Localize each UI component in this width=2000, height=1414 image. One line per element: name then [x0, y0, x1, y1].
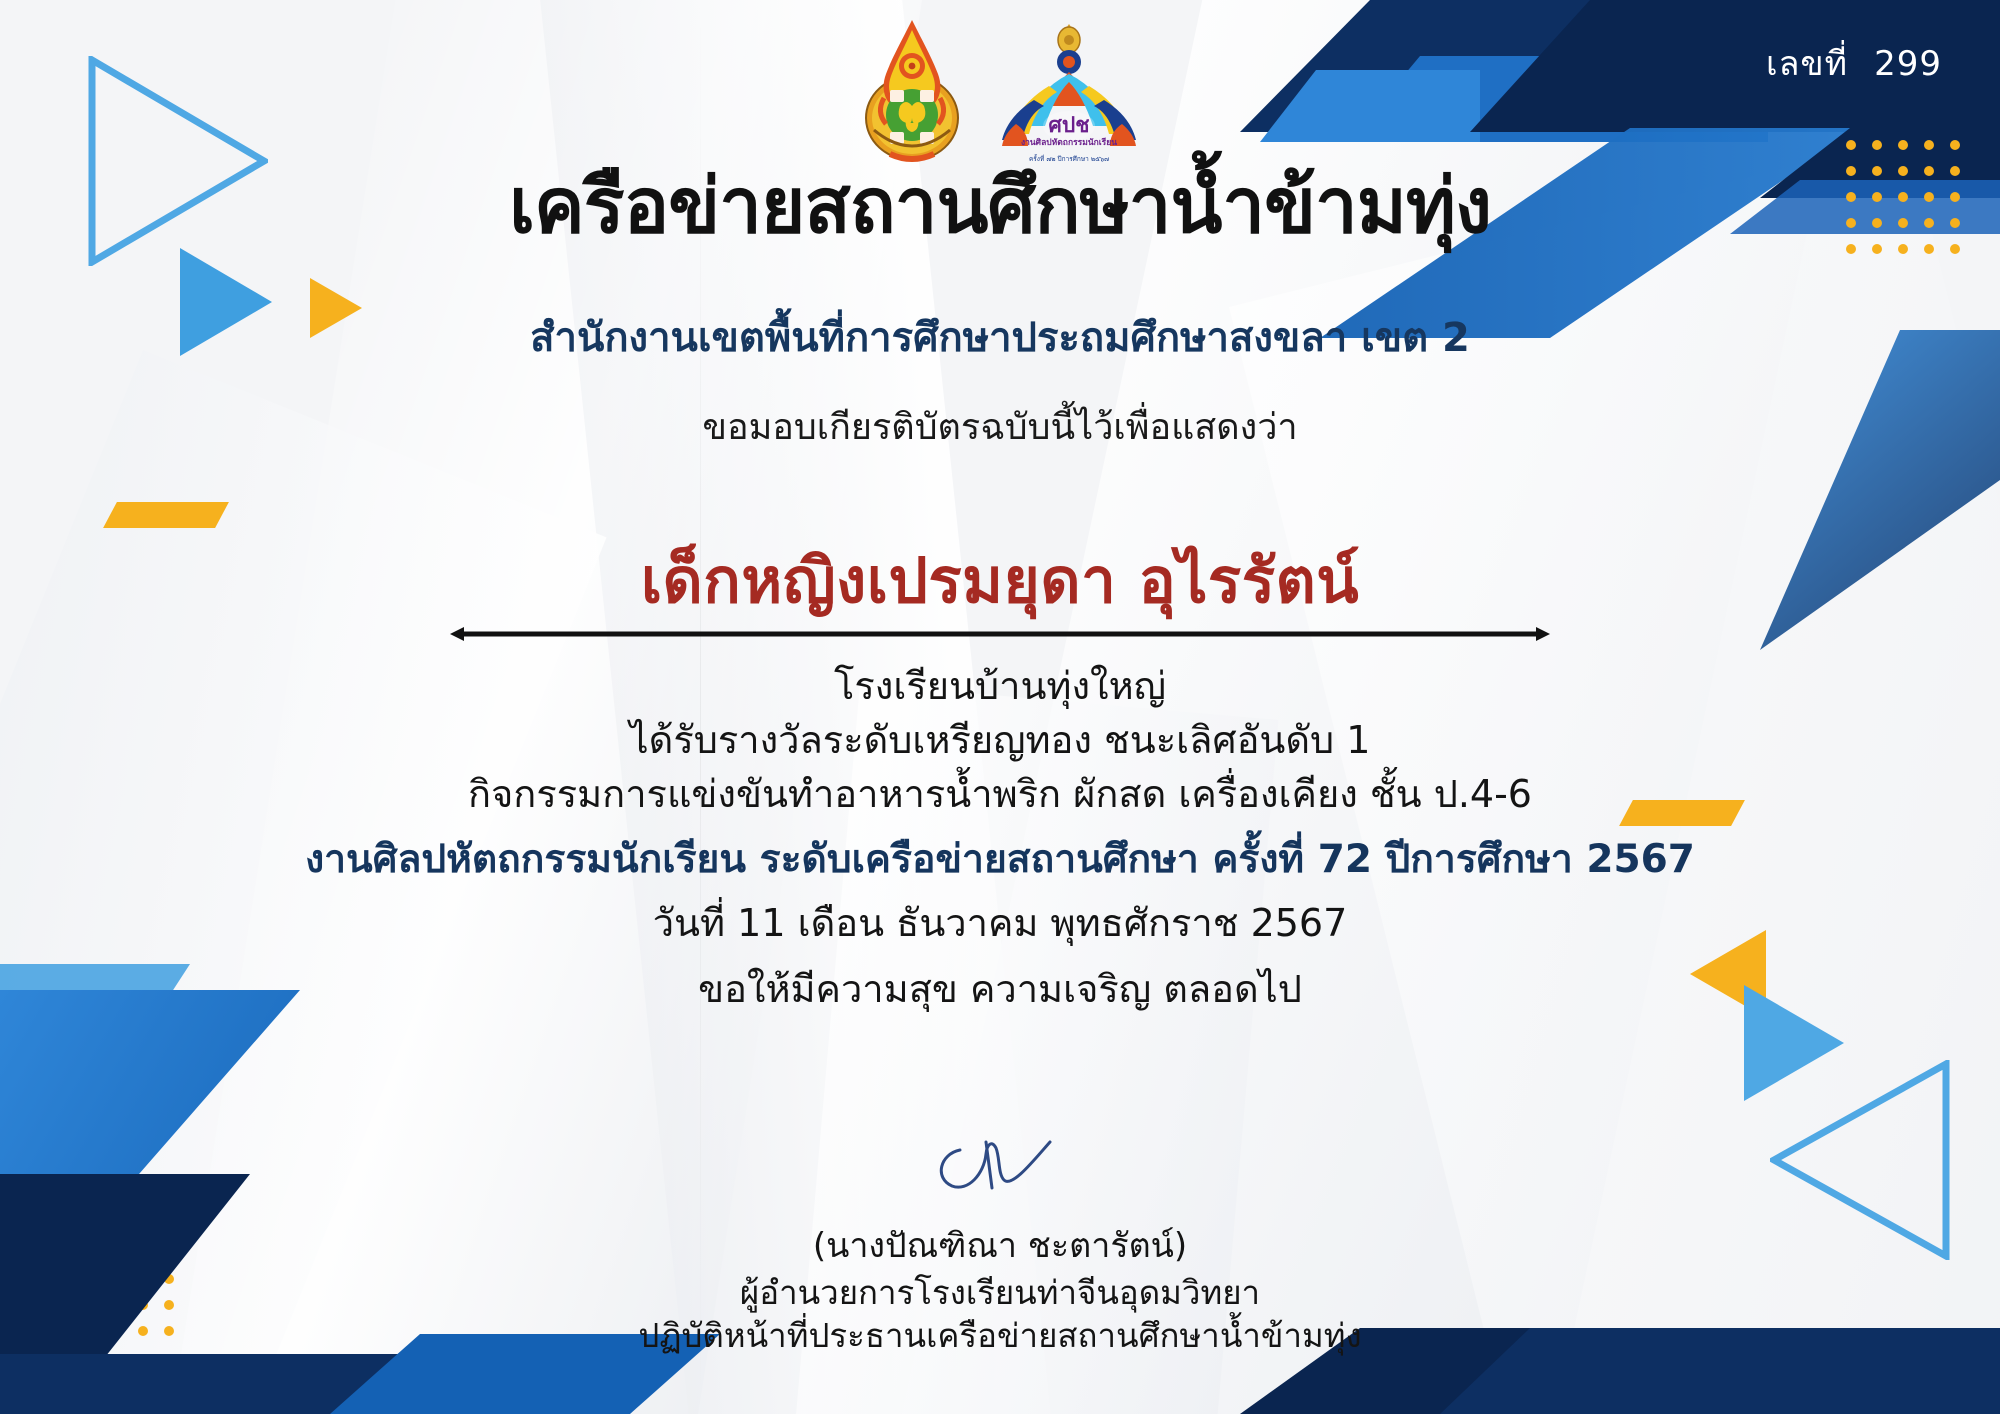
recipient-name-rule	[450, 626, 1550, 632]
certificate-page: ศปช งานศิลปหัตถกรรมนักเรียน ครั้งที่ ๗๒ …	[0, 0, 2000, 1414]
award-wish: ขอให้มีความสุข ความเจริญ ตลอดไป	[0, 963, 2000, 1017]
certificate-number: เลขที่ 299	[1766, 36, 1942, 90]
recipient-school: โรงเรียนบ้านทุ่งใหญ่	[0, 660, 2000, 714]
award-result: ได้รับรางวัลระดับเหรียญทอง ชนะเลิศอันดับ…	[0, 714, 2000, 768]
signer-name: (นางปัณฑิณา ชะตารัตน์)	[0, 1218, 2000, 1272]
award-body: โรงเรียนบ้านทุ่งใหญ่ ได้รับรางวัลระดับเห…	[0, 660, 2000, 1017]
signature-mark	[0, 1130, 2000, 1200]
silapa-hatthakam-logo-icon: ศปช งานศิลปหัตถกรรมนักเรียน ครั้งที่ ๗๒ …	[994, 14, 1144, 164]
signature-block: (นางปัณฑิณา ชะตารัตน์) ผู้อำนวยการโรงเรี…	[0, 1130, 2000, 1358]
svg-text:งานศิลปหัตถกรรมนักเรียน: งานศิลปหัตถกรรมนักเรียน	[1021, 137, 1117, 148]
certificate-content: ศปช งานศิลปหัตถกรรมนักเรียน ครั้งที่ ๗๒ …	[0, 0, 2000, 1414]
page-title: เครือข่ายสถานศึกษาน้ำข้ามทุ่ง	[0, 162, 2000, 250]
logo-row: ศปช งานศิลปหัตถกรรมนักเรียน ครั้งที่ ๗๒ …	[0, 14, 2000, 164]
ministry-of-education-seal-icon	[856, 14, 968, 164]
signer-role-2: ปฏิบัติหน้าที่ประธานเครือข่ายสถานศึกษาน้…	[0, 1315, 2000, 1358]
award-activity: กิจกรรมการแข่งขันทำอาหารน้ำพริก ผักสด เค…	[0, 768, 2000, 822]
svg-text:ศปช: ศปช	[1049, 113, 1090, 137]
page-subtitle: สำนักงานเขตพื้นที่การศึกษาประถมศึกษาสงขล…	[0, 305, 2000, 369]
certificate-number-label: เลขที่	[1766, 36, 1848, 90]
signer-role-1: ผู้อำนวยการโรงเรียนท่าจีนอุดมวิทยา	[0, 1272, 2000, 1315]
recipient-name: เด็กหญิงเปรมยุดา อุไรรัตน์	[0, 532, 2000, 630]
lead-text: ขอมอบเกียรติบัตรฉบับนี้ไว้เพื่อแสดงว่า	[0, 398, 2000, 455]
award-event: งานศิลปหัตถกรรมนักเรียน ระดับเครือข่ายสถ…	[0, 832, 2000, 887]
certificate-number-value: 299	[1874, 44, 1942, 84]
award-date: วันที่ 11 เดือน ธันวาคม พุทธศักราช 2567	[0, 897, 2000, 951]
